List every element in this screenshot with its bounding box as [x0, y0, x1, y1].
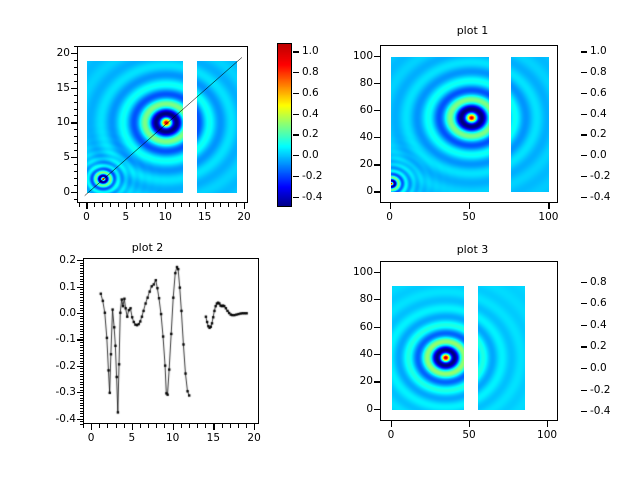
colorbar-tick-label: 0.2 — [590, 128, 607, 140]
heatmap-top-left — [78, 47, 248, 203]
y-tick-minor — [80, 342, 84, 343]
y-tick-label: 100 — [332, 266, 373, 278]
colorbar-tick-label: 0.4 — [302, 108, 319, 120]
heatmap-top-right — [381, 46, 558, 203]
x-tick-minor — [142, 203, 143, 207]
colorbar-tick-label: 0.2 — [302, 128, 319, 140]
colorbar-tick — [293, 93, 299, 94]
x-tick-minor — [173, 203, 174, 207]
colorbar-tick — [293, 176, 299, 177]
colorbar-tick-label: -0.4 — [590, 191, 611, 203]
y-tick-minor — [80, 326, 84, 327]
y-tick-minor — [80, 287, 84, 288]
x-tick-label: 0 — [88, 432, 95, 444]
y-tick-minor — [80, 321, 84, 322]
y-tick-label: 0.2 — [35, 254, 76, 266]
y-tick-minor — [80, 271, 84, 272]
colorbar-tick — [293, 155, 299, 156]
y-tick-minor — [80, 273, 84, 274]
y-tick-minor — [80, 398, 84, 399]
y-tick-minor — [80, 347, 84, 348]
y-tick-label: 60 — [332, 104, 373, 116]
x-tick-minor — [228, 203, 229, 207]
colorbar-tick-label: -0.4 — [590, 405, 611, 417]
colorbar-tick — [581, 390, 587, 391]
axes-bottom-right — [380, 261, 558, 421]
y-tick-label: 5 — [29, 151, 70, 163]
figure-canvas: 0510152005101520 -0.4-0.20.00.20.40.60.8… — [0, 0, 640, 480]
y-tick-minor — [80, 281, 84, 282]
y-tick-major — [374, 272, 380, 273]
y-tick-major — [374, 409, 380, 410]
x-tick-major — [390, 203, 391, 209]
colorbar-tick — [581, 51, 587, 52]
y-tick-minor — [74, 185, 78, 186]
y-tick-minor — [80, 392, 84, 393]
y-tick-minor — [80, 308, 84, 309]
y-tick-minor — [74, 157, 78, 158]
y-tick-major — [374, 191, 380, 192]
y-tick-minor — [80, 400, 84, 401]
y-tick-label: -0.3 — [35, 386, 76, 398]
colorbar-tick-label: 0.4 — [590, 319, 607, 331]
x-tick-minor — [238, 424, 239, 428]
x-tick-minor — [107, 424, 108, 428]
y-tick-minor — [80, 276, 84, 277]
colorbar-tick — [581, 72, 587, 73]
axes-top-right — [380, 45, 558, 203]
x-tick-minor — [205, 203, 206, 207]
y-tick-minor — [80, 384, 84, 385]
colorbar-tick — [581, 282, 587, 283]
y-tick-minor — [80, 313, 84, 314]
y-tick-minor — [80, 371, 84, 372]
x-tick-minor — [156, 424, 157, 428]
y-tick-minor — [80, 279, 84, 280]
x-tick-label: 50 — [462, 211, 475, 223]
y-tick-label: 40 — [332, 131, 373, 143]
y-tick-minor — [80, 382, 84, 383]
y-tick-minor — [80, 260, 84, 261]
y-tick-major — [374, 299, 380, 300]
x-tick-minor — [213, 203, 214, 207]
colorbar-tick — [293, 72, 299, 73]
colorbar-tick — [581, 134, 587, 135]
colorbar-tick — [581, 346, 587, 347]
colorbar-tick-label: 0.0 — [590, 362, 607, 374]
y-tick-minor — [80, 363, 84, 364]
colorbar-tick — [581, 176, 587, 177]
x-tick-major — [547, 421, 548, 427]
y-tick-major — [374, 327, 380, 328]
y-tick-minor — [74, 150, 78, 151]
x-tick-minor — [86, 203, 87, 207]
x-tick-label: 0 — [386, 211, 393, 223]
colorbar-tick-label: 0.2 — [590, 340, 607, 352]
y-tick-minor — [80, 366, 84, 367]
y-tick-minor — [80, 292, 84, 293]
y-tick-minor — [80, 334, 84, 335]
y-tick-minor — [80, 405, 84, 406]
x-tick-minor — [244, 203, 245, 207]
y-tick-minor — [80, 413, 84, 414]
y-tick-minor — [80, 411, 84, 412]
x-tick-minor — [157, 203, 158, 207]
y-tick-minor — [80, 289, 84, 290]
x-tick-minor — [83, 424, 84, 428]
x-tick-minor — [94, 203, 95, 207]
colorbar-tick-label: 0.0 — [302, 149, 319, 161]
y-tick-label: 20 — [332, 375, 373, 387]
colorbar-tick — [293, 197, 299, 198]
y-tick-minor — [80, 339, 84, 340]
x-tick-minor — [254, 424, 255, 428]
y-tick-label: 20 — [29, 47, 70, 59]
y-tick-minor — [80, 310, 84, 311]
y-tick-minor — [80, 395, 84, 396]
y-tick-minor — [80, 419, 84, 420]
y-tick-label: -0.1 — [35, 333, 76, 345]
x-tick-minor — [79, 203, 80, 207]
panel-bottom-left: plot 2 05101520-0.4-0.3-0.2-0.10.00.10.2 — [0, 240, 320, 480]
colorbar-tick-label: 0.6 — [590, 297, 607, 309]
axes-top-left — [77, 46, 248, 203]
x-tick-minor — [91, 424, 92, 428]
colorbar-tick — [581, 303, 587, 304]
x-tick-label: 10 — [166, 432, 179, 444]
colorbar-tick — [581, 93, 587, 94]
y-tick-minor — [80, 337, 84, 338]
y-tick-major — [374, 56, 380, 57]
x-tick-major — [391, 421, 392, 427]
y-tick-label: 0 — [332, 185, 373, 197]
y-tick-minor — [80, 376, 84, 377]
x-tick-minor — [213, 424, 214, 428]
y-tick-minor — [80, 355, 84, 356]
x-tick-label: 5 — [123, 211, 130, 223]
y-tick-minor — [80, 374, 84, 375]
panel-top-left: 0510152005101520 -0.4-0.20.00.20.40.60.8… — [0, 0, 320, 240]
y-tick-minor — [74, 192, 78, 193]
colorbar-top-left — [277, 43, 292, 207]
y-tick-label: 40 — [332, 348, 373, 360]
y-tick-minor — [80, 403, 84, 404]
x-tick-label: 20 — [247, 432, 260, 444]
y-tick-minor — [74, 102, 78, 103]
y-tick-minor — [74, 109, 78, 110]
colorbar-tick-label: -0.2 — [590, 170, 611, 182]
y-tick-minor — [80, 390, 84, 391]
x-tick-minor — [102, 203, 103, 207]
y-tick-minor — [74, 115, 78, 116]
x-tick-label: 10 — [159, 211, 172, 223]
x-tick-minor — [222, 424, 223, 428]
colorbar-tick-label: 0.6 — [302, 87, 319, 99]
y-tick-minor — [80, 345, 84, 346]
x-tick-major — [469, 203, 470, 209]
y-tick-label: 15 — [29, 82, 70, 94]
y-tick-minor — [74, 164, 78, 165]
y-tick-minor — [74, 171, 78, 172]
axes-bottom-left — [83, 258, 259, 424]
y-tick-minor — [80, 294, 84, 295]
x-tick-minor — [110, 203, 111, 207]
y-tick-minor — [80, 379, 84, 380]
x-tick-label: 0 — [388, 429, 395, 441]
colorbar-tick-label: 0.8 — [302, 66, 319, 78]
colorbar-tick — [581, 197, 587, 198]
y-tick-minor — [80, 421, 84, 422]
x-tick-label: 15 — [207, 432, 220, 444]
x-tick-minor — [126, 203, 127, 207]
heatmap-bottom-right — [381, 262, 558, 421]
y-tick-major — [374, 381, 380, 382]
y-tick-minor — [80, 318, 84, 319]
y-tick-minor — [74, 88, 78, 89]
y-tick-major — [374, 354, 380, 355]
colorbar-tick-label: 0.8 — [590, 66, 607, 78]
colorbar-tick-label: 1.0 — [590, 45, 607, 57]
x-tick-minor — [230, 424, 231, 428]
y-tick-label: -0.4 — [35, 413, 76, 425]
y-tick-minor — [80, 324, 84, 325]
y-tick-minor — [80, 424, 84, 425]
x-tick-major — [469, 421, 470, 427]
y-tick-minor — [80, 297, 84, 298]
y-tick-major — [374, 137, 380, 138]
x-tick-minor — [148, 424, 149, 428]
y-tick-minor — [80, 387, 84, 388]
x-tick-minor — [99, 424, 100, 428]
y-tick-label: 0.1 — [35, 281, 76, 293]
y-tick-minor — [80, 284, 84, 285]
colorbar-tick — [581, 368, 587, 369]
panel-bottom-right: plot 3 050100020406080100 -0.4-0.20.00.2… — [320, 240, 640, 480]
y-tick-minor — [80, 305, 84, 306]
x-tick-minor — [165, 203, 166, 207]
colorbar-tick — [581, 411, 587, 412]
y-tick-label: 80 — [332, 293, 373, 305]
x-tick-minor — [134, 203, 135, 207]
y-tick-major — [374, 83, 380, 84]
y-tick-minor — [80, 300, 84, 301]
x-tick-minor — [124, 424, 125, 428]
y-tick-label: -0.2 — [35, 360, 76, 372]
y-tick-minor — [74, 46, 78, 47]
y-tick-minor — [80, 416, 84, 417]
y-tick-major — [374, 110, 380, 111]
y-tick-minor — [74, 136, 78, 137]
y-tick-minor — [80, 368, 84, 369]
y-tick-minor — [80, 331, 84, 332]
y-tick-label: 0 — [29, 186, 70, 198]
colorbar-tick — [293, 51, 299, 52]
panel-top-right: plot 1 050100020406080100 -0.4-0.20.00.2… — [320, 0, 640, 240]
x-tick-minor — [189, 203, 190, 207]
colorbar-tick — [581, 114, 587, 115]
panel-bottom-right-title: plot 3 — [360, 243, 585, 256]
y-tick-minor — [74, 74, 78, 75]
y-tick-minor — [80, 302, 84, 303]
x-tick-minor — [197, 203, 198, 207]
x-tick-label: 100 — [537, 429, 557, 441]
y-tick-minor — [74, 67, 78, 68]
y-tick-minor — [74, 95, 78, 96]
x-tick-minor — [205, 424, 206, 428]
x-tick-minor — [118, 203, 119, 207]
y-tick-minor — [74, 60, 78, 61]
x-tick-label: 15 — [198, 211, 211, 223]
x-tick-minor — [149, 203, 150, 207]
colorbar-gradient-top-left — [278, 44, 292, 207]
x-tick-label: 0 — [83, 211, 90, 223]
y-tick-label: 100 — [332, 50, 373, 62]
colorbar-tick — [293, 134, 299, 135]
colorbar-tick-label: 0.4 — [590, 108, 607, 120]
x-tick-major — [548, 203, 549, 209]
y-tick-minor — [74, 143, 78, 144]
colorbar-tick-label: 1.0 — [302, 45, 319, 57]
x-tick-minor — [181, 203, 182, 207]
x-tick-minor — [220, 203, 221, 207]
y-tick-minor — [80, 316, 84, 317]
y-tick-minor — [74, 81, 78, 82]
x-tick-minor — [189, 424, 190, 428]
y-tick-minor — [80, 361, 84, 362]
colorbar-tick — [581, 325, 587, 326]
x-tick-minor — [246, 424, 247, 428]
x-tick-minor — [197, 424, 198, 428]
y-tick-label: 0.0 — [35, 307, 76, 319]
panel-top-right-title: plot 1 — [360, 24, 585, 37]
colorbar-tick-label: 0.6 — [590, 87, 607, 99]
x-tick-label: 5 — [129, 432, 136, 444]
y-tick-minor — [80, 329, 84, 330]
y-tick-minor — [80, 265, 84, 266]
y-tick-minor — [80, 353, 84, 354]
y-tick-minor — [80, 263, 84, 264]
y-tick-minor — [74, 178, 78, 179]
y-tick-label: 0 — [332, 403, 373, 415]
x-tick-minor — [164, 424, 165, 428]
x-tick-minor — [236, 203, 237, 207]
x-tick-minor — [140, 424, 141, 428]
x-tick-minor — [181, 424, 182, 428]
colorbar-tick — [293, 114, 299, 115]
y-tick-minor — [80, 350, 84, 351]
y-tick-minor — [74, 53, 78, 54]
y-tick-minor — [74, 122, 78, 123]
y-tick-label: 80 — [332, 77, 373, 89]
panel-bottom-left-title: plot 2 — [35, 241, 260, 254]
y-tick-minor — [80, 408, 84, 409]
y-tick-minor — [74, 199, 78, 200]
x-tick-label: 20 — [237, 211, 250, 223]
y-tick-label: 10 — [29, 116, 70, 128]
x-tick-minor — [116, 424, 117, 428]
colorbar-tick-label: -0.2 — [590, 384, 611, 396]
x-tick-minor — [173, 424, 174, 428]
lineplot-bottom-left — [84, 259, 259, 424]
y-tick-minor — [80, 268, 84, 269]
y-tick-major — [374, 164, 380, 165]
y-tick-minor — [74, 129, 78, 130]
y-tick-minor — [80, 358, 84, 359]
y-tick-label: 20 — [332, 158, 373, 170]
x-tick-label: 50 — [462, 429, 475, 441]
x-tick-label: 100 — [538, 211, 558, 223]
colorbar-tick-label: 0.8 — [590, 276, 607, 288]
colorbar-tick-label: 0.0 — [590, 149, 607, 161]
colorbar-tick — [581, 155, 587, 156]
x-tick-minor — [132, 424, 133, 428]
y-tick-label: 60 — [332, 321, 373, 333]
